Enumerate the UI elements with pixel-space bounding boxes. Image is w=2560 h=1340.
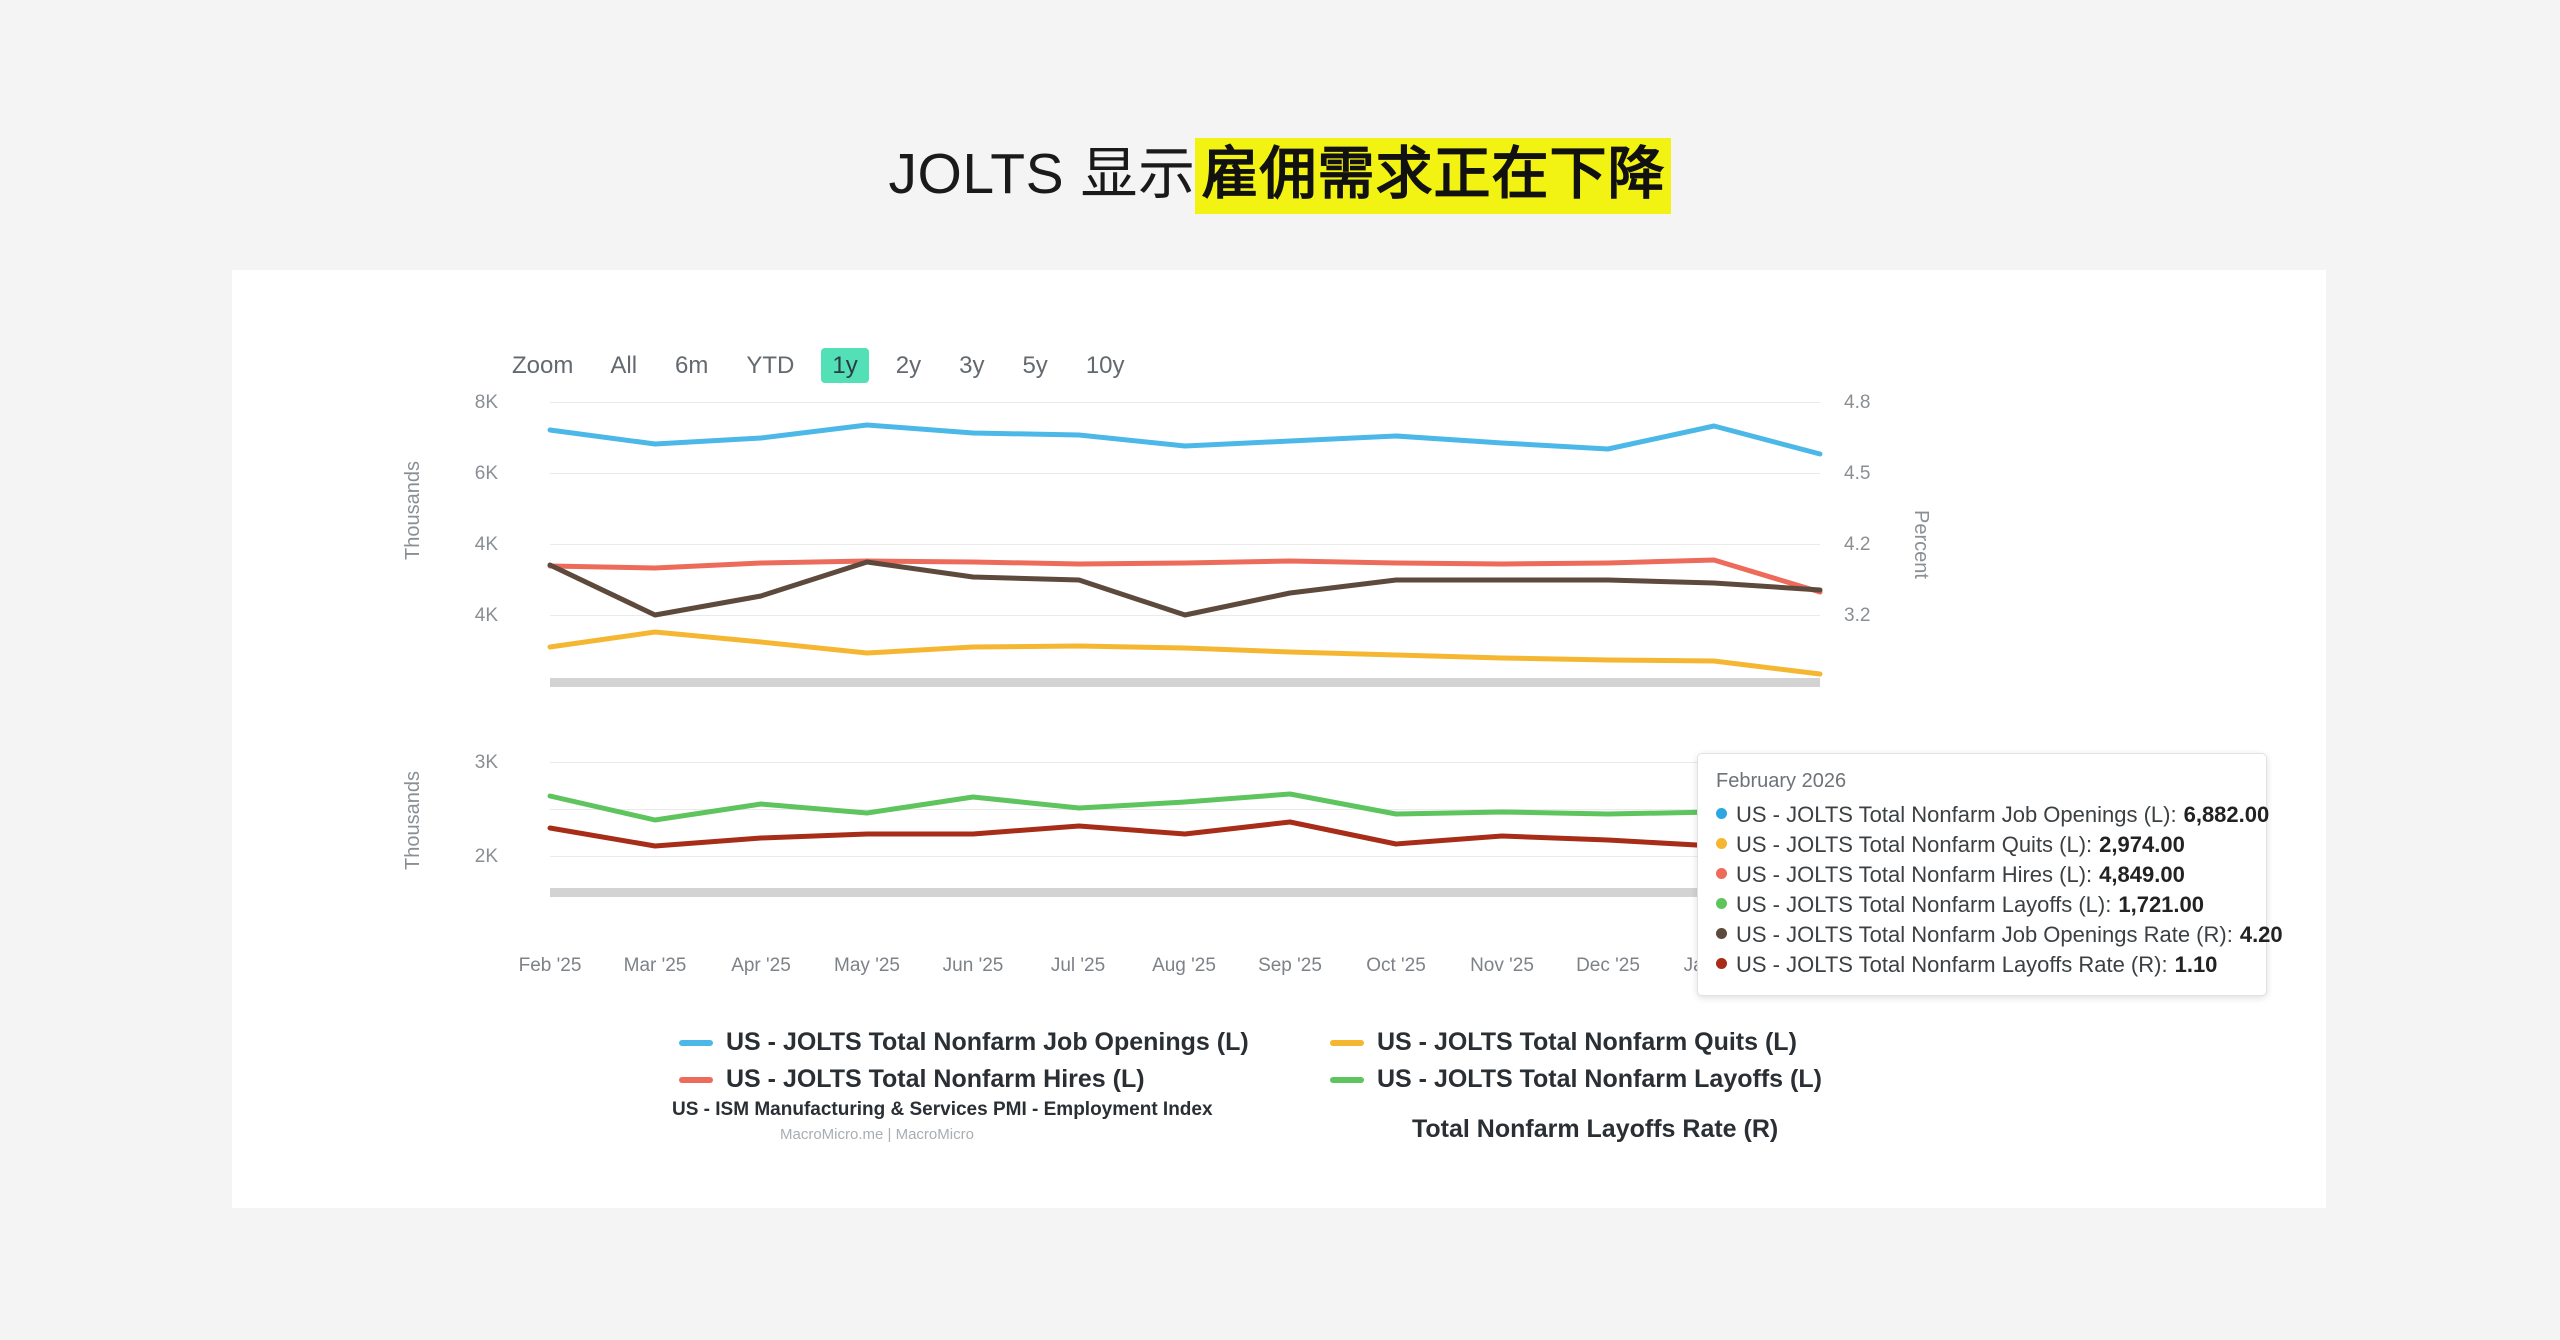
series-line-job-openings — [550, 425, 1820, 454]
ytick-top-left-2: 6K — [428, 463, 498, 485]
tooltip-dot-job-openings-icon — [1716, 808, 1727, 819]
legend-label-hires: US - JOLTS Total Nonfarm Hires (L) — [726, 1065, 1145, 1094]
zoom-option-ytd[interactable]: YTD — [735, 348, 805, 383]
xtick-3: May '25 — [834, 955, 900, 977]
tooltip-row-hires: US - JOLTS Total Nonfarm Hires (L): 4,84… — [1716, 860, 2248, 890]
tooltip-dot-job-openings-rate-icon — [1716, 928, 1727, 939]
tooltip-value-quits: 2,974.00 — [2099, 830, 2185, 860]
tooltip-row-layoffs-rate: US - JOLTS Total Nonfarm Layoffs Rate (R… — [1716, 950, 2248, 980]
page-root: JOLTS 显示雇佣需求正在下降 Zoom All 6m YTD 1y 2y 3… — [0, 0, 2560, 1340]
zoom-label: Zoom — [512, 352, 573, 380]
legend-item-hires[interactable]: US - JOLTS Total Nonfarm Hires (L) — [679, 1065, 1145, 1094]
ytick-top-right-1: 4.8 — [1844, 392, 1870, 414]
zoom-option-2y[interactable]: 2y — [885, 348, 932, 383]
legend-label-quits: US - JOLTS Total Nonfarm Quits (L) — [1377, 1028, 1797, 1057]
tooltip-value-layoffs-rate: 1.10 — [2175, 950, 2218, 980]
chart-source: MacroMicro.me | MacroMicro — [780, 1126, 974, 1143]
legend-swatch-job-openings-icon — [679, 1040, 713, 1046]
top-plot-area — [550, 402, 1820, 724]
tooltip-dot-quits-icon — [1716, 838, 1727, 849]
tooltip-row-layoffs: US - JOLTS Total Nonfarm Layoffs (L): 1,… — [1716, 890, 2248, 920]
xtick-7: Sep '25 — [1258, 955, 1322, 977]
legend-sub-note: US - ISM Manufacturing & Services PMI - … — [672, 1099, 1213, 1121]
legend-swatch-hires-icon — [679, 1077, 713, 1083]
ytick-top-left-1: 8K — [428, 392, 498, 414]
ytick-bot-left-2: 2K — [428, 846, 498, 868]
zoom-option-10y[interactable]: 10y — [1075, 348, 1136, 383]
legend-item-layoffs[interactable]: US - JOLTS Total Nonfarm Layoffs (L) — [1330, 1065, 1822, 1094]
tooltip-dot-layoffs-icon — [1716, 898, 1727, 909]
xtick-1: Mar '25 — [624, 955, 687, 977]
axis-title-top-right: Percent — [1909, 510, 1932, 579]
ytick-top-right-3: 4.2 — [1844, 534, 1870, 556]
bottom-plot-area — [550, 762, 1820, 922]
zoom-option-6m[interactable]: 6m — [664, 348, 719, 383]
page-title-plain: JOLTS 显示 — [889, 142, 1196, 206]
ytick-top-right-2: 4.5 — [1844, 463, 1870, 485]
page-title-highlight: 雇佣需求正在下降 — [1195, 138, 1671, 214]
tooltip-label-layoffs: US - JOLTS Total Nonfarm Layoffs (L): — [1736, 890, 2111, 920]
tooltip-row-quits: US - JOLTS Total Nonfarm Quits (L): 2,97… — [1716, 830, 2248, 860]
chart-tooltip: February 2026 US - JOLTS Total Nonfarm J… — [1697, 753, 2267, 996]
xtick-4: Jun '25 — [943, 955, 1004, 977]
series-line-job-openings-rate — [550, 562, 1820, 615]
series-line-hires — [550, 560, 1820, 592]
xtick-5: Jul '25 — [1051, 955, 1105, 977]
xtick-8: Oct '25 — [1366, 955, 1426, 977]
tooltip-label-job-openings-rate: US - JOLTS Total Nonfarm Job Openings Ra… — [1736, 920, 2233, 950]
tooltip-row-job-openings-rate: US - JOLTS Total Nonfarm Job Openings Ra… — [1716, 920, 2248, 950]
legend-clipped-note: Total Nonfarm Layoffs Rate (R) — [1412, 1115, 1778, 1144]
xtick-9: Nov '25 — [1470, 955, 1534, 977]
chart-legend: US - JOLTS Total Nonfarm Job Openings (L… — [232, 1018, 2326, 1138]
tooltip-label-job-openings: US - JOLTS Total Nonfarm Job Openings (L… — [1736, 800, 2177, 830]
tooltip-date: February 2026 — [1716, 770, 2248, 793]
zoom-option-1y[interactable]: 1y — [821, 348, 868, 383]
page-title: JOLTS 显示雇佣需求正在下降 — [0, 128, 2560, 210]
legend-item-job-openings[interactable]: US - JOLTS Total Nonfarm Job Openings (L… — [679, 1028, 1249, 1057]
legend-label-job-openings: US - JOLTS Total Nonfarm Job Openings (L… — [726, 1028, 1249, 1057]
tooltip-dot-hires-icon — [1716, 868, 1727, 879]
legend-swatch-quits-icon — [1330, 1040, 1364, 1046]
tooltip-label-hires: US - JOLTS Total Nonfarm Hires (L): — [1736, 860, 2092, 890]
bottom-panel-series-svg — [550, 762, 1820, 922]
legend-item-quits[interactable]: US - JOLTS Total Nonfarm Quits (L) — [1330, 1028, 1797, 1057]
legend-swatch-layoffs-icon — [1330, 1077, 1364, 1083]
xtick-6: Aug '25 — [1152, 955, 1216, 977]
series-line-quits — [550, 632, 1820, 674]
tooltip-value-hires: 4,849.00 — [2099, 860, 2185, 890]
ytick-top-left-3: 4K — [428, 534, 498, 556]
xtick-0: Feb '25 — [519, 955, 582, 977]
series-line-layoffs — [550, 794, 1820, 820]
zoom-range-selector: Zoom All 6m YTD 1y 2y 3y 5y 10y — [512, 348, 1152, 383]
xtick-2: Apr '25 — [731, 955, 791, 977]
series-line-layoffs-rate — [550, 822, 1820, 846]
ytick-top-left-4: 4K — [428, 605, 498, 627]
zoom-option-5y[interactable]: 5y — [1011, 348, 1058, 383]
zoom-option-all[interactable]: All — [599, 348, 648, 383]
tooltip-label-layoffs-rate: US - JOLTS Total Nonfarm Layoffs Rate (R… — [1736, 950, 2168, 980]
legend-label-layoffs: US - JOLTS Total Nonfarm Layoffs (L) — [1377, 1065, 1822, 1094]
tooltip-row-job-openings: US - JOLTS Total Nonfarm Job Openings (L… — [1716, 800, 2248, 830]
zoom-option-3y[interactable]: 3y — [948, 348, 995, 383]
ytick-bot-left-1: 3K — [428, 752, 498, 774]
tooltip-value-job-openings-rate: 4.20 — [2240, 920, 2283, 950]
tooltip-value-job-openings: 6,882.00 — [2184, 800, 2270, 830]
chart-card: Zoom All 6m YTD 1y 2y 3y 5y 10y — [232, 270, 2326, 1208]
axis-title-top-left: Thousands — [402, 461, 425, 560]
xtick-10: Dec '25 — [1576, 955, 1640, 977]
top-panel-series-svg — [550, 402, 1820, 724]
tooltip-value-layoffs: 1,721.00 — [2118, 890, 2204, 920]
tooltip-dot-layoffs-rate-icon — [1716, 958, 1727, 969]
axis-title-bot-left: Thousands — [402, 771, 425, 870]
tooltip-label-quits: US - JOLTS Total Nonfarm Quits (L): — [1736, 830, 2092, 860]
ytick-top-right-4: 3.2 — [1844, 605, 1870, 627]
